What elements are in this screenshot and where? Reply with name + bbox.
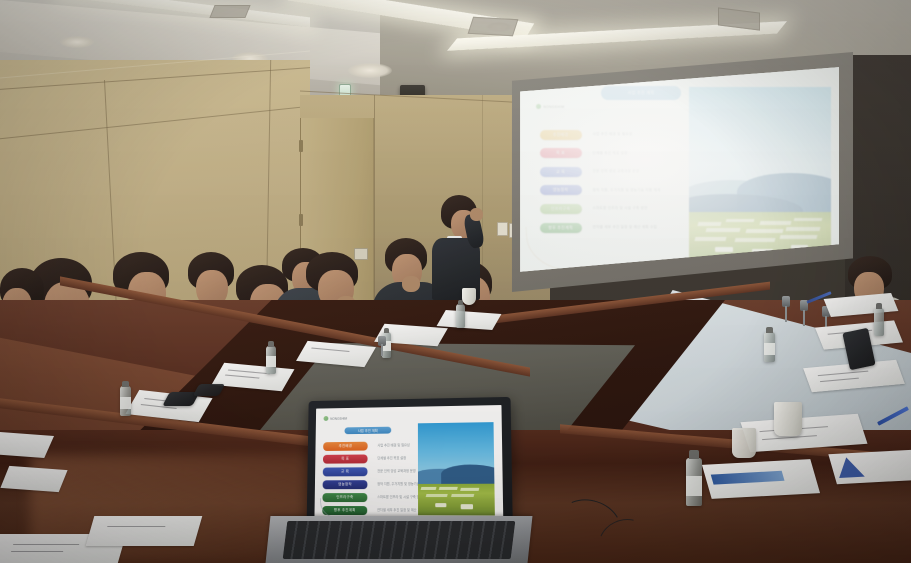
laptop-slide-photo bbox=[418, 422, 494, 515]
projected-slide: NONGSHIM 사업 추진 계획 추진배경 사업 추진 배경 및 필요성 목 … bbox=[517, 64, 839, 276]
ceiling-vent-left bbox=[209, 5, 250, 18]
projection-screen: NONGSHIM 사업 추진 계획 추진배경 사업 추진 배경 및 필요성 목 … bbox=[517, 64, 839, 276]
paper-cup[interactable] bbox=[462, 288, 476, 305]
laptop-screen: NONGSHIM 사업 추진 계획 추진배경 사업 추진 배경 및 필요성 목 … bbox=[314, 405, 503, 525]
document[interactable] bbox=[0, 432, 54, 458]
laptop-note-4: 스마트팜 인프라 및 시설 구축 방안 bbox=[377, 494, 422, 499]
wall-plate-right[interactable] bbox=[497, 222, 508, 236]
laptop-slide-title: 사업 추진 계획 bbox=[344, 427, 391, 435]
slide-note-4: 스마트팜 인프라 및 시설 구축 방안 bbox=[593, 206, 648, 211]
slide-logo: NONGSHIM bbox=[536, 104, 564, 109]
laptop-logo-text: NONGSHIM bbox=[330, 416, 347, 420]
slide-title: 사업 추진 계획 bbox=[601, 86, 682, 100]
water-bottle[interactable] bbox=[874, 308, 884, 336]
slide-note-1: 단계별 추진 목표 설정 bbox=[593, 151, 628, 156]
slide-title-text: 사업 추진 계획 bbox=[628, 90, 655, 96]
laptop-keyboard[interactable] bbox=[283, 521, 516, 559]
paper-cup[interactable] bbox=[732, 428, 756, 458]
slide-bar-2: 교 육 bbox=[540, 167, 582, 177]
slide-bar-1: 목 표 bbox=[540, 148, 582, 158]
document-folder[interactable] bbox=[828, 450, 911, 485]
brochure-graphic bbox=[711, 471, 785, 485]
logo-mark-icon bbox=[536, 104, 541, 109]
downlight-3 bbox=[348, 63, 392, 78]
water-bottle[interactable] bbox=[686, 458, 702, 506]
slide-photo bbox=[689, 87, 831, 265]
slide-bar-4: 인프라구축 bbox=[540, 204, 582, 214]
laptop-note-0: 사업 추진 배경 및 필요성 bbox=[377, 442, 409, 447]
water-bottle[interactable] bbox=[764, 332, 775, 362]
document[interactable] bbox=[86, 516, 203, 546]
power-outlet-wall[interactable] bbox=[354, 248, 368, 260]
laptop-note-1: 단계별 추진 목표 설정 bbox=[377, 455, 406, 460]
slide-bar-0: 추진배경 bbox=[540, 130, 582, 140]
meeting-room-photo: NONGSHIM 사업 추진 계획 추진배경 사업 추진 배경 및 필요성 목 … bbox=[0, 0, 911, 563]
water-bottle[interactable] bbox=[120, 386, 131, 416]
paper-cup[interactable] bbox=[774, 402, 802, 436]
slide-logo-text: NONGSHIM bbox=[543, 105, 564, 109]
brochure[interactable] bbox=[702, 459, 820, 499]
folder-logo-icon bbox=[833, 457, 864, 478]
laptop-bar-3: 영농정착 bbox=[323, 480, 368, 489]
slide-bar-3: 영농정착 bbox=[540, 185, 582, 195]
document[interactable] bbox=[0, 466, 67, 492]
laptop-bar-0: 추진배경 bbox=[323, 442, 368, 451]
downlight-1 bbox=[60, 36, 94, 48]
laptop-bar-2: 교 육 bbox=[323, 467, 368, 476]
water-bottle[interactable] bbox=[456, 304, 465, 328]
laptop-note-2: 전문 인력 양성 교육과정 운영 bbox=[377, 468, 415, 473]
water-bottle[interactable] bbox=[266, 346, 276, 374]
laptop-bar-1: 목 표 bbox=[323, 454, 368, 463]
ceiling-vent-right bbox=[468, 17, 519, 36]
slide-note-3: 정착 지원, 주거지원 및 영농기술 지원 체계 bbox=[593, 188, 661, 193]
laptop-slide: NONGSHIM 사업 추진 계획 추진배경 사업 추진 배경 및 필요성 목 … bbox=[314, 405, 503, 525]
slide-note-0: 사업 추진 배경 및 필요성 bbox=[593, 132, 633, 137]
laptop-logo-mark-icon bbox=[324, 416, 329, 421]
slide-note-2: 전문 인력 양성 교육과정 운영 bbox=[593, 169, 640, 174]
